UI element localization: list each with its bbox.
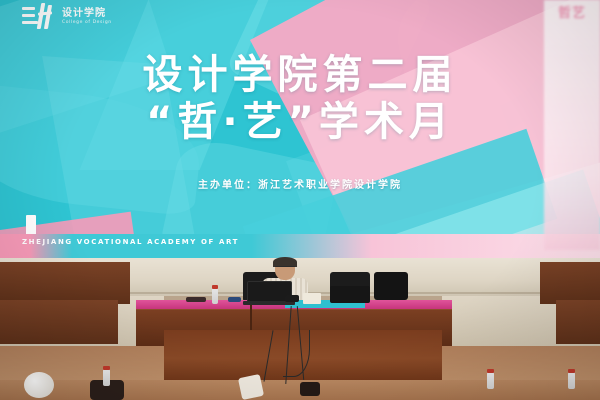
dark-object-on-table (186, 297, 206, 302)
dark-bag-on-floor (300, 382, 320, 396)
slide-title-block: 设计学院第二届 “哲·艺”学术月 (0, 52, 600, 146)
water-bottle-on-table (212, 288, 218, 304)
floor-bottle-far-right (568, 372, 575, 389)
papers-on-table (303, 293, 321, 304)
floor-bottle-right (487, 372, 494, 389)
slide-bottom-text: ZHEJIANG VOCATIONAL ACADEMY OF ART (22, 238, 239, 246)
white-bag-on-floor (238, 374, 264, 400)
wood-panel-right-lower (556, 300, 600, 344)
zhejiang-monogram-icon (22, 3, 56, 31)
wood-panel-left (0, 262, 130, 304)
slide-title-line-2: “哲·艺”学术月 (0, 98, 600, 146)
photo-scene: 设计学院 College of Design 设计学院第二届 “哲·艺”学术月 … (0, 0, 600, 400)
side-banner-text: 哲艺 (550, 6, 594, 21)
microphone-base (285, 295, 299, 302)
slide-subtitle: 主办单位：浙江艺术职业学院设计学院 (0, 176, 600, 191)
second-monitor (330, 286, 370, 303)
logo-name-cn: 设计学院 (62, 9, 112, 19)
projection-screen: 设计学院 College of Design 设计学院第二届 “哲·艺”学术月 … (0, 0, 600, 258)
white-floor-object (24, 372, 54, 398)
side-banner: 哲艺 (544, 0, 600, 250)
chair-far-right (374, 272, 408, 300)
wood-panel-left-lower (0, 300, 118, 344)
wood-panel-right (540, 262, 600, 304)
slide-title-line-1: 设计学院第二届 (0, 52, 600, 98)
college-logo: 设计学院 College of Design (22, 3, 112, 31)
glasses-icon (275, 266, 295, 271)
floor-bottle-left (103, 369, 110, 386)
blue-object-on-table (228, 297, 241, 302)
logo-name-en: College of Design (62, 21, 112, 26)
